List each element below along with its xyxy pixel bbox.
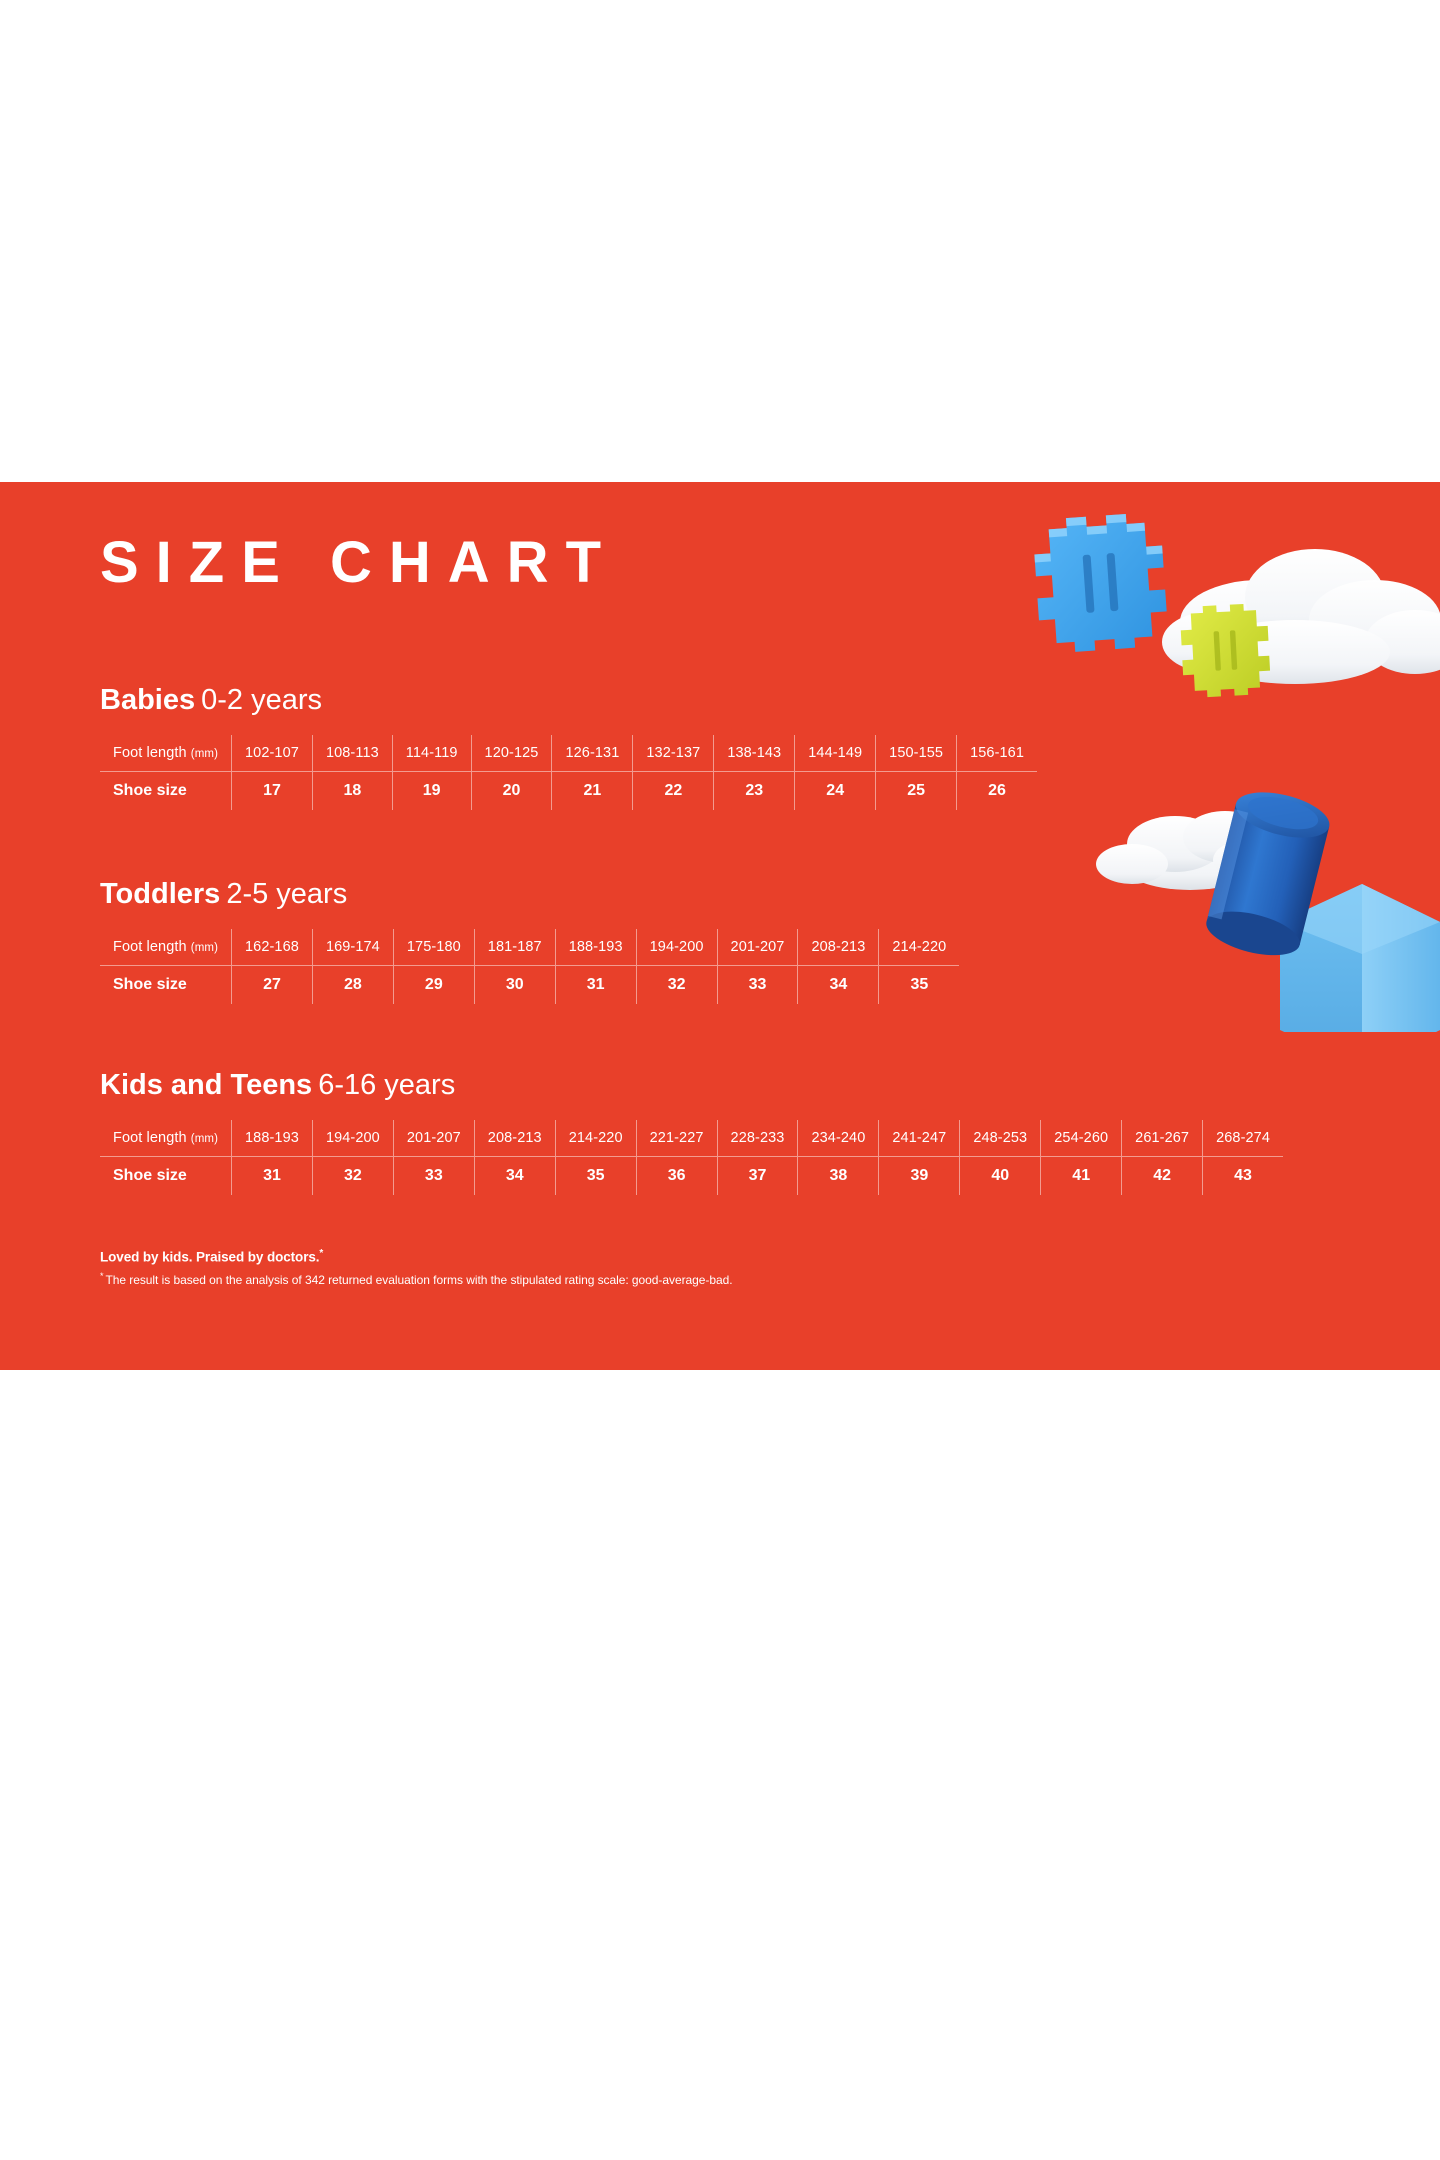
cell-foot-length: 201-207 [717,929,798,966]
cell-shoe-size: 32 [312,1157,393,1196]
cell-foot-length: 132-137 [633,735,714,772]
cell-shoe-size: 41 [1041,1157,1122,1196]
cell-foot-length: 188-193 [232,1120,313,1157]
cell-shoe-size: 34 [474,1157,555,1196]
row-label-unit: (mm) [191,942,218,954]
cell-shoe-size: 22 [633,772,714,811]
decoration-top-cluster [1010,502,1440,712]
cell-shoe-size: 29 [393,966,474,1005]
cell-foot-length: 201-207 [393,1120,474,1157]
cell-foot-length: 138-143 [714,735,795,772]
cell-shoe-size: 19 [392,772,471,811]
footer-tagline-text: Loved by kids. Praised by doctors. [100,1250,319,1265]
cell-shoe-size: 34 [798,966,879,1005]
cell-shoe-size: 36 [636,1157,717,1196]
size-chart-panel: SIZE CHART Babies0-2 years Foot length (… [0,482,1440,1370]
cell-shoe-size: 25 [876,772,957,811]
cell-shoe-size: 31 [555,966,636,1005]
cloud-bottom-icon [1096,811,1297,890]
cell-shoe-size: 20 [471,772,552,811]
cell-foot-length: 175-180 [393,929,474,966]
cell-foot-length: 208-213 [798,929,879,966]
cell-shoe-size: 24 [795,772,876,811]
row-label-foot-length: Foot length (mm) [100,929,232,966]
cell-foot-length: 126-131 [552,735,633,772]
cell-foot-length: 114-119 [392,735,471,772]
cell-shoe-size: 17 [232,772,313,811]
cell-foot-length: 228-233 [717,1120,798,1157]
cell-shoe-size: 27 [232,966,313,1005]
decoration-bottom-cluster [1070,732,1440,1032]
row-label-unit: (mm) [191,1133,218,1145]
row-label-unit: (mm) [191,748,218,760]
cell-shoe-size: 39 [879,1157,960,1196]
section-heading-kids-and-teens: Kids and Teens6-16 years [100,1071,1283,1100]
cell-foot-length: 162-168 [232,929,313,966]
table-row-foot-length: Foot length (mm) 188-193 194-200 201-207… [100,1120,1283,1157]
cell-shoe-size: 31 [232,1157,313,1196]
blue-hash-block-icon [1032,512,1169,655]
footer-note: *The result is based on the analysis of … [100,1271,733,1287]
cell-foot-length: 188-193 [555,929,636,966]
cell-foot-length: 169-174 [312,929,393,966]
blue-cylinder-block-icon [1202,784,1334,963]
section-age-label: 0-2 years [201,684,322,716]
cell-foot-length: 254-260 [1041,1120,1122,1157]
section-babies: Babies0-2 years Foot length (mm) 102-107… [100,686,1037,810]
cell-shoe-size: 35 [879,966,959,1005]
section-age-label: 6-16 years [318,1069,455,1101]
size-table-toddlers: Foot length (mm) 162-168 169-174 175-180… [100,929,959,1004]
table-row-shoe-size: Shoe size 27 28 29 30 31 32 33 34 35 [100,966,959,1005]
cell-shoe-size: 42 [1122,1157,1203,1196]
cell-shoe-size: 30 [474,966,555,1005]
cell-foot-length: 234-240 [798,1120,879,1157]
cell-shoe-size: 21 [552,772,633,811]
cell-foot-length: 108-113 [312,735,392,772]
cell-foot-length: 156-161 [957,735,1037,772]
section-heading-babies: Babies0-2 years [100,686,1037,715]
cell-shoe-size: 35 [555,1157,636,1196]
page-title: SIZE CHART [100,534,618,592]
light-blue-cube-block-icon [1280,884,1440,1032]
cell-shoe-size: 28 [312,966,393,1005]
size-table-kids-and-teens: Foot length (mm) 188-193 194-200 201-207… [100,1120,1283,1195]
table-row-foot-length: Foot length (mm) 102-107 108-113 114-119… [100,735,1037,772]
footer: Loved by kids. Praised by doctors.* *The… [100,1248,733,1287]
cell-shoe-size: 43 [1203,1157,1283,1196]
footer-tagline: Loved by kids. Praised by doctors.* [100,1248,733,1265]
cell-foot-length: 241-247 [879,1120,960,1157]
cell-foot-length: 261-267 [1122,1120,1203,1157]
section-age-label: 2-5 years [226,878,347,910]
cell-foot-length: 268-274 [1203,1120,1283,1157]
section-group-label: Toddlers [100,878,220,910]
row-label-foot-length-text: Foot length [113,939,187,955]
table-row-foot-length: Foot length (mm) 162-168 169-174 175-180… [100,929,959,966]
section-group-label: Kids and Teens [100,1069,312,1101]
footer-tagline-marker: * [319,1248,323,1259]
footer-note-marker: * [100,1271,103,1281]
cell-foot-length: 194-200 [636,929,717,966]
cell-foot-length: 248-253 [960,1120,1041,1157]
row-label-shoe-size: Shoe size [100,772,232,811]
cell-shoe-size: 33 [717,966,798,1005]
table-row-shoe-size: Shoe size 31 32 33 34 35 36 37 38 39 40 … [100,1157,1283,1196]
yellow-hash-block-icon [1180,603,1272,699]
cell-shoe-size: 37 [717,1157,798,1196]
cell-foot-length: 214-220 [555,1120,636,1157]
section-toddlers: Toddlers2-5 years Foot length (mm) 162-1… [100,880,959,1004]
cell-foot-length: 150-155 [876,735,957,772]
footer-note-text: The result is based on the analysis of 3… [105,1273,732,1287]
cell-shoe-size: 40 [960,1157,1041,1196]
cell-foot-length: 221-227 [636,1120,717,1157]
cell-foot-length: 102-107 [232,735,313,772]
cell-foot-length: 181-187 [474,929,555,966]
row-label-foot-length: Foot length (mm) [100,1120,232,1157]
cloud-top-icon [1162,549,1440,684]
section-kids-and-teens: Kids and Teens6-16 years Foot length (mm… [100,1071,1283,1195]
cell-foot-length: 214-220 [879,929,959,966]
section-heading-toddlers: Toddlers2-5 years [100,880,959,909]
cell-shoe-size: 32 [636,966,717,1005]
cell-foot-length: 144-149 [795,735,876,772]
cell-foot-length: 194-200 [312,1120,393,1157]
row-label-shoe-size: Shoe size [100,966,232,1005]
section-group-label: Babies [100,684,195,716]
row-label-foot-length: Foot length (mm) [100,735,232,772]
row-label-foot-length-text: Foot length [113,1130,187,1146]
cell-shoe-size: 23 [714,772,795,811]
cell-shoe-size: 33 [393,1157,474,1196]
size-table-babies: Foot length (mm) 102-107 108-113 114-119… [100,735,1037,810]
cell-shoe-size: 26 [957,772,1037,811]
table-row-shoe-size: Shoe size 17 18 19 20 21 22 23 24 25 26 [100,772,1037,811]
cell-shoe-size: 18 [312,772,392,811]
row-label-foot-length-text: Foot length [113,745,187,761]
cell-shoe-size: 38 [798,1157,879,1196]
cell-foot-length: 120-125 [471,735,552,772]
row-label-shoe-size: Shoe size [100,1157,232,1196]
cell-foot-length: 208-213 [474,1120,555,1157]
